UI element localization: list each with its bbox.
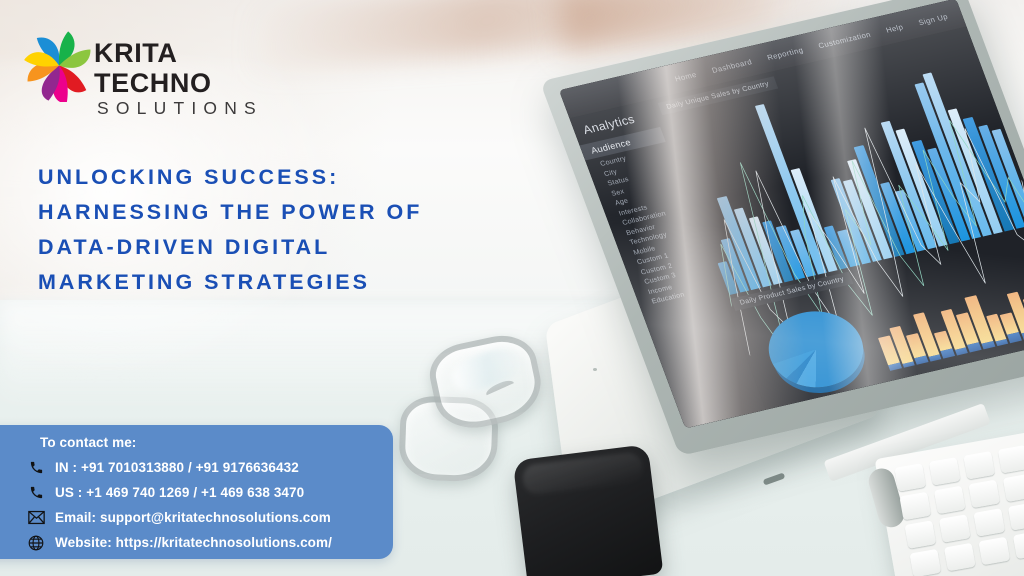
keyboard-key[interactable] [929, 457, 961, 485]
keyboard-key[interactable] [944, 543, 976, 571]
company-logo: KRITA TECHNO SOLUTIONS [22, 24, 252, 106]
headline-line-3: DATA-DRIVEN DIGITAL [38, 230, 578, 265]
keyboard-key[interactable] [934, 486, 966, 514]
stacked-bar-base [995, 339, 1008, 346]
keyboard-key[interactable] [998, 445, 1024, 473]
keyboard-key[interactable] [968, 480, 1000, 508]
pie-chart-product-sales [757, 302, 875, 396]
contact-row-website[interactable]: Website: https://kritatechnosolutions.co… [26, 530, 393, 555]
bar-chart-unique-sales [662, 48, 1024, 296]
nav-item-home[interactable]: Home [673, 70, 697, 83]
stacked-bar-base [902, 361, 915, 368]
contact-panel: To contact me: IN : +91 7010313880 / +91… [0, 425, 393, 559]
contact-row-email[interactable]: Email: support@kritatechnosolutions.com [26, 505, 393, 530]
logo-text-line2: SOLUTIONS [94, 98, 263, 118]
contact-phone-in: IN : +91 7010313880 / +91 9176636432 [55, 460, 299, 475]
keyboard [875, 423, 1024, 576]
contact-row-phone-us[interactable]: US : +1 469 740 1269 / +1 469 638 3470 [26, 480, 393, 505]
envelope-icon [26, 510, 46, 525]
keyboard-key[interactable] [899, 492, 931, 520]
logo-wordmark: KRITA TECHNO SOLUTIONS [94, 38, 263, 118]
logo-text-line1: KRITA TECHNO [94, 38, 263, 98]
contact-website: Website: https://kritatechnosolutions.co… [55, 535, 332, 550]
keyboard-key[interactable] [939, 514, 971, 542]
keyboard-key[interactable] [1003, 474, 1024, 502]
colorful-pinwheel-logo-icon [22, 26, 96, 102]
nav-item-customization[interactable]: Customization [817, 29, 872, 49]
keyboard-key[interactable] [894, 463, 926, 491]
contact-email: Email: support@kritatechnosolutions.com [55, 510, 331, 525]
globe-icon [26, 535, 46, 551]
headline-line-2: HARNESSING THE POWER OF [38, 195, 578, 230]
headline: UNLOCKING SUCCESS: HARNESSING THE POWER … [38, 160, 578, 300]
phone-icon [26, 460, 46, 475]
keyboard-key[interactable] [909, 549, 941, 576]
nav-item-reporting[interactable]: Reporting [766, 45, 805, 62]
keyboard-key[interactable] [978, 537, 1010, 565]
keyboard-key[interactable] [963, 451, 995, 479]
headline-line-1: UNLOCKING SUCCESS: [38, 160, 578, 195]
laptop-port [763, 472, 786, 485]
smartphone [513, 444, 664, 576]
contact-phone-us: US : +1 469 740 1269 / +1 469 638 3470 [55, 485, 304, 500]
phone-icon [26, 485, 46, 500]
nav-item-dashboard[interactable]: Dashboard [710, 57, 753, 75]
keyboard-key[interactable] [1013, 531, 1024, 559]
contact-heading: To contact me: [26, 435, 393, 450]
keyboard-key[interactable] [1008, 502, 1024, 530]
stacked-bar-base [955, 347, 968, 355]
laptop-screw [593, 368, 597, 371]
stacked-bar-base [981, 341, 995, 350]
marketing-banner: Home Dashboard Reporting Customization H… [0, 0, 1024, 576]
stacked-bar-base [968, 343, 982, 353]
keyboard-key[interactable] [973, 508, 1005, 536]
nav-item-signup[interactable]: Sign Up [917, 12, 949, 27]
contact-row-phone-in[interactable]: IN : +91 7010313880 / +91 9176636432 [26, 455, 393, 480]
headline-line-4: MARKETING STRATEGIES [38, 265, 578, 300]
keyboard-key[interactable] [904, 520, 936, 548]
stacked-bar-base [888, 362, 902, 371]
smartphone-reflection [521, 451, 644, 495]
stacked-bar-base [1007, 332, 1022, 343]
nav-item-help[interactable]: Help [884, 22, 904, 34]
stacked-bar-base [941, 348, 955, 358]
stacked-bar-base [914, 356, 928, 365]
stacked-bar-base [928, 354, 941, 361]
pie-slices [757, 302, 875, 396]
